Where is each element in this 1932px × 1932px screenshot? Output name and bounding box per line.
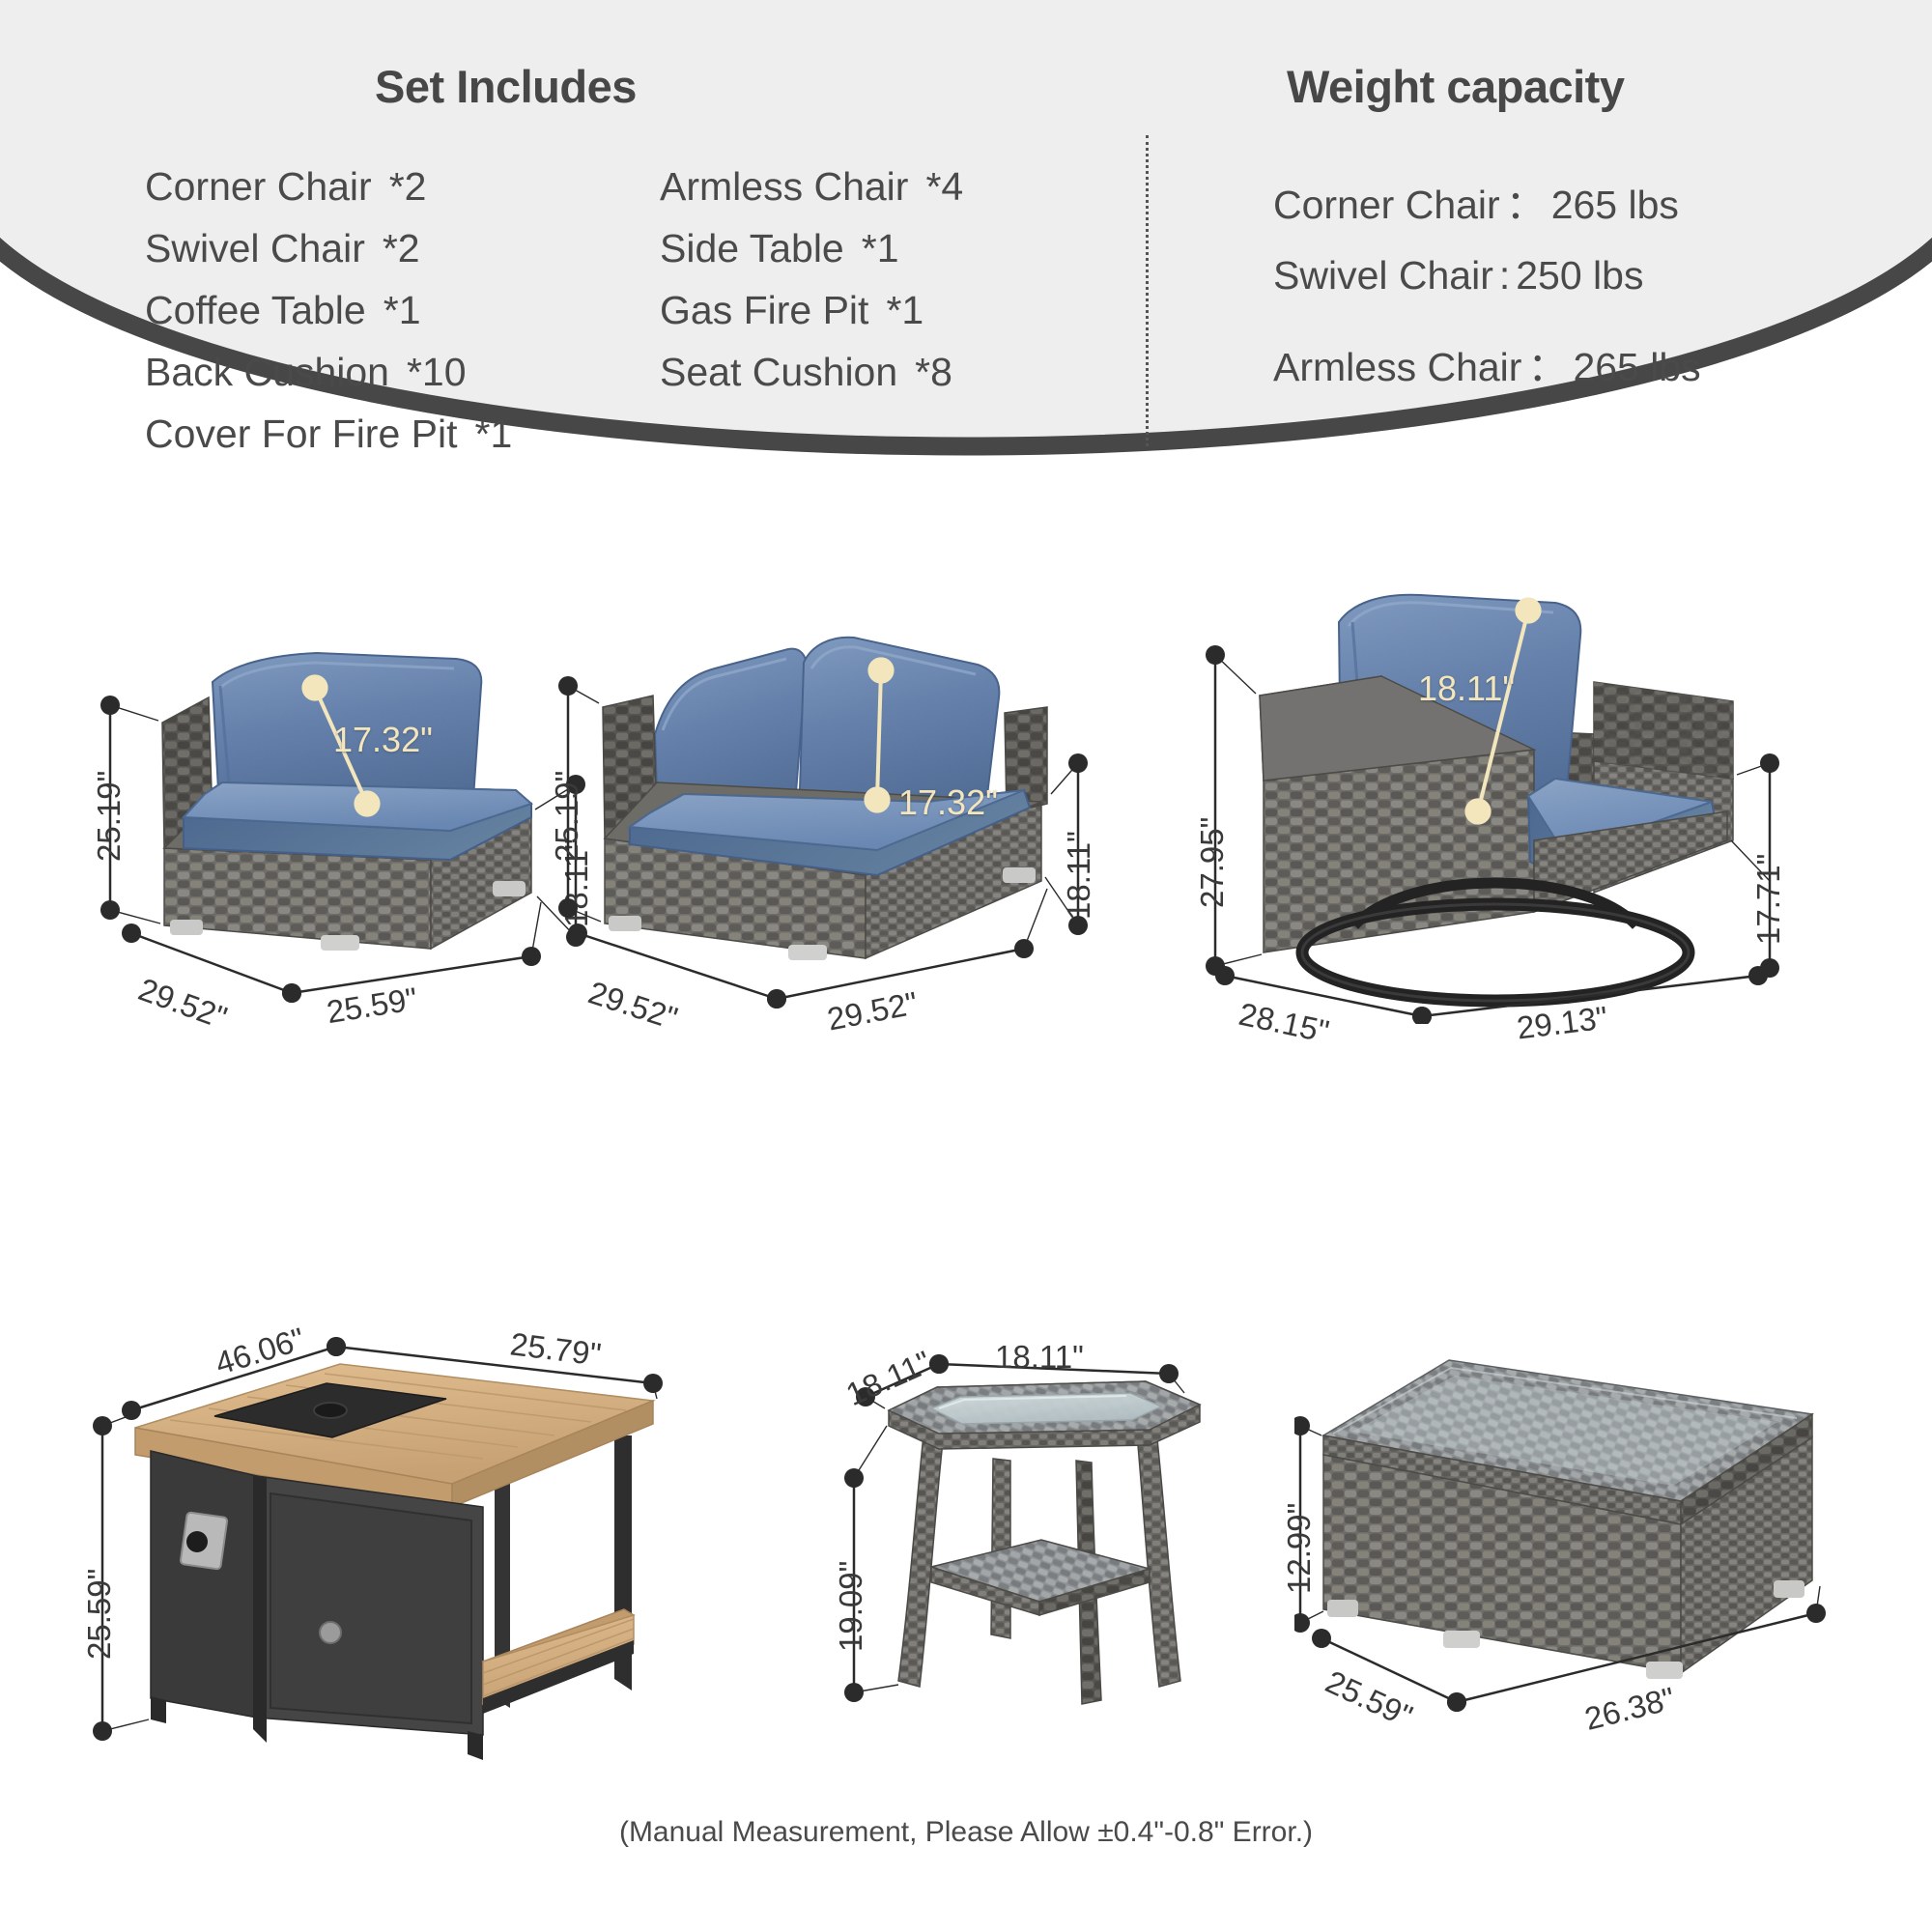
set-item-coffee-table: Coffee Table*1 <box>145 288 421 333</box>
product-armless-chair: 17.32" 25.19" 18.11" 29.52" 25.59" <box>77 541 618 1024</box>
swivel-chair-height-dimension: 27.95" <box>1194 817 1231 908</box>
weight-capacity-name: Corner Chair <box>1273 183 1500 228</box>
weight-capacity-row-armless-chair: Armless Chair：265 lbs <box>1273 334 1701 392</box>
side-table-width-dimension: 18.11" <box>995 1339 1084 1376</box>
weight-capacity-name: Armless Chair <box>1273 345 1521 390</box>
product-swivel-chair: 18.11" 27.95" 17.71" 28.15" 29.13" <box>1140 522 1816 1024</box>
header-panel: Set Includes Weight capacity Corner Chai… <box>0 0 1932 483</box>
product-corner-chair: 17.32" 25.19" 18.11" 29.52" 29.52" <box>541 541 1140 1024</box>
measurement-disclaimer: (Manual Measurement, Please Allow ±0.4"-… <box>0 1816 1932 1849</box>
corner-chair-illustration <box>541 541 1140 1024</box>
corner-chair-height-dimension: 25.19" <box>549 771 585 862</box>
set-item-qty: *10 <box>407 350 467 395</box>
armless-chair-height-dimension: 25.19" <box>91 771 128 862</box>
fire-pit-height-dimension: 25.59" <box>81 1569 118 1660</box>
set-item-corner-chair: Corner Chair*2 <box>145 164 426 210</box>
set-item-side-table: Side Table*1 <box>660 226 899 271</box>
set-item-swivel-chair: Swivel Chair*2 <box>145 226 420 271</box>
set-item-label: Back Cushion <box>145 350 389 395</box>
set-item-qty: *1 <box>886 288 923 333</box>
set-item-back-cushion: Back Cushion*10 <box>145 350 467 395</box>
weight-capacity-name: Swivel Chair <box>1273 253 1493 298</box>
header-column-divider <box>1146 135 1149 446</box>
set-item-qty: *1 <box>475 412 513 457</box>
side-table-height-dimension: 19.09" <box>833 1561 869 1652</box>
product-gas-fire-pit-table: 46.06" 25.79" 25.59" <box>77 1314 696 1777</box>
set-item-seat-cushion: Seat Cushion*8 <box>660 350 952 395</box>
swivel-chair-back-cushion-dimension: 18.11" <box>1418 668 1515 709</box>
set-item-label: Cover For Fire Pit <box>145 412 458 457</box>
weight-capacity-value: 265 lbs <box>1551 183 1679 228</box>
corner-chair-seat-height-dimension: 18.11" <box>1061 831 1097 920</box>
weight-capacity-title: Weight capacity <box>1287 60 1624 113</box>
swivel-chair-illustration <box>1140 522 1816 1024</box>
weight-capacity-value: 250 lbs <box>1516 253 1643 298</box>
fire-pit-table-illustration <box>77 1314 696 1777</box>
set-item-cover-for-fire-pit: Cover For Fire Pit*1 <box>145 412 512 457</box>
product-diagram-grid: 17.32" 25.19" 18.11" 29.52" 25.59" <box>0 483 1932 1835</box>
table-top <box>889 1381 1200 1449</box>
lower-shelf <box>931 1540 1150 1615</box>
set-item-label: Armless Chair <box>660 164 908 210</box>
set-item-qty: *8 <box>915 350 952 395</box>
set-item-armless-chair: Armless Chair*4 <box>660 164 963 210</box>
set-item-label: Seat Cushion <box>660 350 897 395</box>
weight-capacity-colon: ： <box>1506 172 1546 230</box>
product-side-table: 18.11" 18.11" 19.09" <box>831 1333 1285 1758</box>
set-item-qty: *1 <box>862 226 899 271</box>
weight-capacity-row-corner-chair: Corner Chair：265 lbs <box>1273 172 1679 230</box>
set-item-qty: *4 <box>925 164 963 210</box>
armless-chair-illustration <box>77 541 618 1024</box>
set-item-label: Swivel Chair <box>145 226 365 271</box>
corner-chair-back-cushion-dimension: 17.32" <box>898 782 998 823</box>
set-item-qty: *1 <box>384 288 421 333</box>
weight-capacity-colon: : <box>1499 253 1510 298</box>
side-table-illustration <box>831 1333 1285 1758</box>
weight-capacity-value: 265 lbs <box>1573 345 1700 390</box>
set-item-label: Gas Fire Pit <box>660 288 868 333</box>
set-item-qty: *2 <box>383 226 420 271</box>
weight-capacity-row-swivel-chair: Swivel Chair:250 lbs <box>1273 253 1643 298</box>
set-item-qty: *2 <box>389 164 427 210</box>
swivel-chair-seat-height-dimension: 17.71" <box>1750 854 1787 945</box>
product-coffee-table: 12.99" 25.59" 26.38" <box>1294 1333 1855 1758</box>
set-item-label: Coffee Table <box>145 288 366 333</box>
set-item-gas-fire-pit: Gas Fire Pit*1 <box>660 288 923 333</box>
set-includes-title: Set Includes <box>375 60 637 113</box>
weight-capacity-colon: ： <box>1527 334 1567 392</box>
armless-chair-back-cushion-dimension: 17.32" <box>333 720 433 760</box>
coffee-table-height-dimension: 12.99" <box>1281 1503 1318 1594</box>
set-item-label: Side Table <box>660 226 844 271</box>
set-item-label: Corner Chair <box>145 164 372 210</box>
